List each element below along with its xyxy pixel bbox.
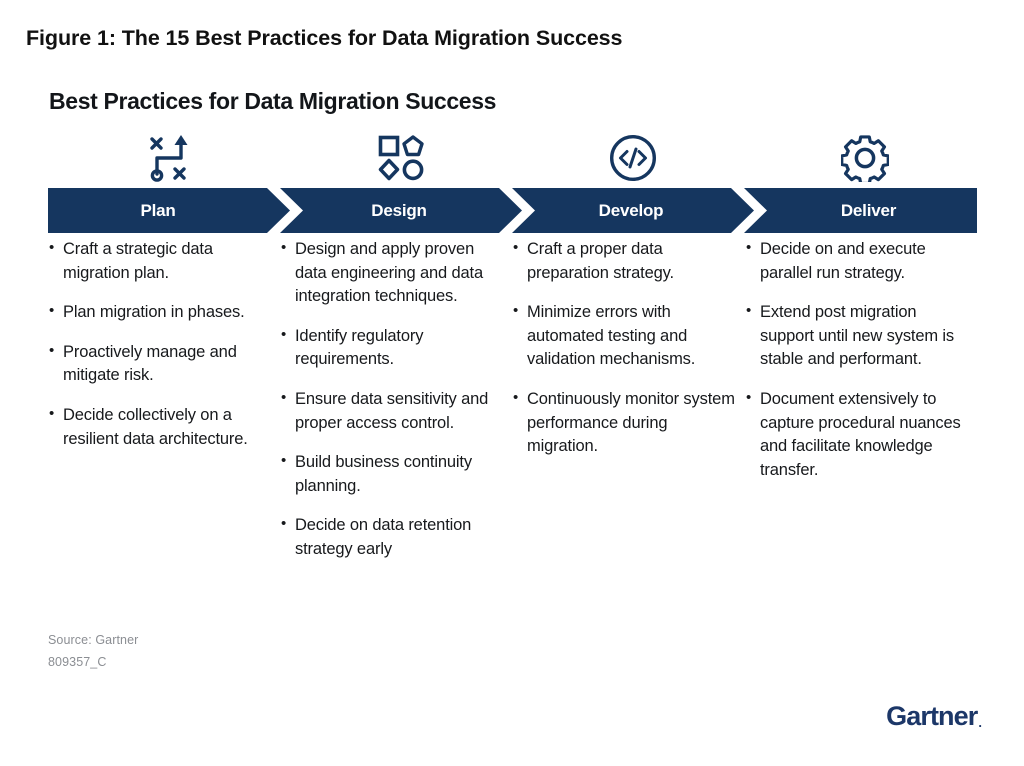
list-item: Proactively manage and mitigate risk. bbox=[48, 341, 276, 388]
bullet-column-develop: Craft a proper data preparation strategy… bbox=[512, 238, 740, 475]
list-item: Decide collectively on a resilient data … bbox=[48, 404, 276, 451]
list-item: Craft a strategic data migration plan. bbox=[48, 238, 276, 285]
list-item: Document extensively to capture procedur… bbox=[745, 388, 973, 482]
bullet-column-design: Design and apply proven data engineering… bbox=[280, 238, 508, 578]
gartner-logo-mark: . bbox=[978, 716, 982, 729]
list-item: Plan migration in phases. bbox=[48, 301, 276, 325]
stage-label-plan: Plan bbox=[140, 201, 175, 221]
code-circle-icon bbox=[603, 130, 663, 186]
stage-label-design: Design bbox=[371, 201, 426, 221]
stage-chevron-design[interactable]: Design bbox=[280, 188, 522, 233]
list-item: Craft a proper data preparation strategy… bbox=[512, 238, 740, 285]
document-id: 809357_C bbox=[48, 652, 138, 674]
stage-chevron-develop[interactable]: Develop bbox=[512, 188, 754, 233]
list-item: Decide on and execute parallel run strat… bbox=[745, 238, 973, 285]
list-item: Decide on data retention strategy early bbox=[280, 514, 508, 561]
list-item: Ensure data sensitivity and proper acces… bbox=[280, 388, 508, 435]
list-item: Extend post migration support until new … bbox=[745, 301, 973, 372]
figure-canvas: Figure 1: The 15 Best Practices for Data… bbox=[0, 0, 1024, 766]
list-item: Minimize errors with automated testing a… bbox=[512, 301, 740, 372]
gartner-logo: Gartner . bbox=[886, 703, 982, 730]
stage-bullet-columns: Craft a strategic data migration plan. P… bbox=[48, 238, 998, 638]
list-item: Continuously monitor system performance … bbox=[512, 388, 740, 459]
gartner-logo-text: Gartner bbox=[886, 703, 977, 730]
chart-subtitle: Best Practices for Data Migration Succes… bbox=[49, 88, 496, 115]
shapes-icon bbox=[371, 130, 431, 186]
bullet-column-plan: Craft a strategic data migration plan. P… bbox=[48, 238, 276, 467]
gear-icon bbox=[835, 130, 895, 186]
stage-chevron-plan[interactable]: Plan bbox=[48, 188, 290, 233]
stage-icon-row bbox=[48, 130, 977, 186]
stage-label-develop: Develop bbox=[599, 201, 664, 221]
list-item: Build business continuity planning. bbox=[280, 451, 508, 498]
bullet-column-deliver: Decide on and execute parallel run strat… bbox=[745, 238, 973, 498]
list-item: Identify regulatory requirements. bbox=[280, 325, 508, 372]
stage-chevron-band: Plan Design Develop Deliver bbox=[48, 188, 977, 233]
stage-label-deliver: Deliver bbox=[841, 201, 896, 221]
list-item: Design and apply proven data engineering… bbox=[280, 238, 508, 309]
figure-title: Figure 1: The 15 Best Practices for Data… bbox=[26, 26, 622, 51]
strategy-play-icon bbox=[139, 130, 199, 186]
source-line: Source: Gartner bbox=[48, 630, 138, 652]
stage-chevron-deliver[interactable]: Deliver bbox=[744, 188, 977, 233]
source-block: Source: Gartner 809357_C bbox=[48, 630, 138, 674]
